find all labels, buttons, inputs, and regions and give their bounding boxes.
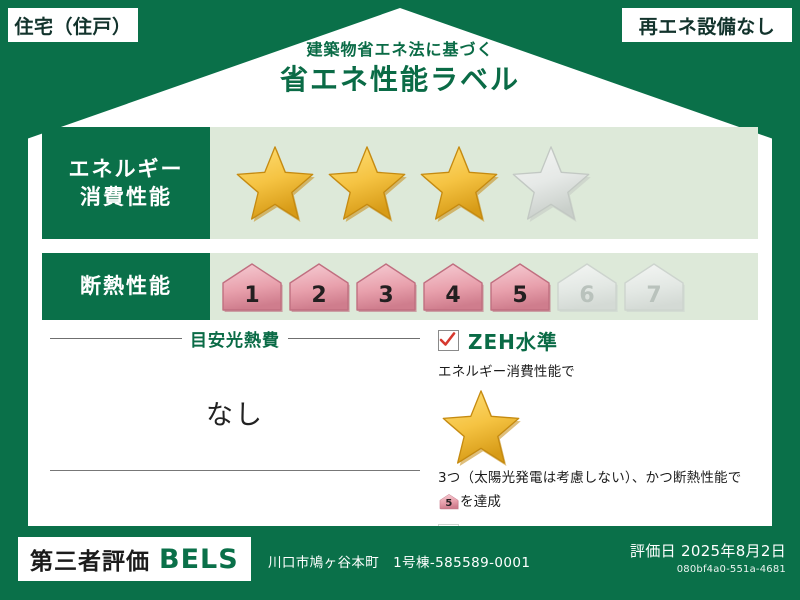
insulation-grade-number: 1 (244, 285, 259, 313)
insulation-grade-chip: 3 (354, 261, 418, 313)
insulation-label-text: 断熱性能 (80, 272, 172, 300)
insulation-grade-scale: 1234567 (220, 261, 686, 313)
zeh-check-line: ZEH水準 (438, 326, 758, 355)
insulation-grade-number: 6 (579, 285, 594, 313)
footer-address: 川口市鳩ヶ谷本町 1号棟-585589-0001 (268, 551, 530, 571)
zeh-desc-part3: を達成 (460, 494, 501, 510)
zeh-block: ZEH水準 エネルギー消費性能で3つ（太陽光発電は考慮しない）、かつ断熱性能で5… (438, 326, 758, 547)
inline-grade-chip: 5 (439, 493, 459, 510)
energy-rating-area (210, 127, 758, 239)
utility-cost-heading: 目安光熱費 (50, 326, 420, 351)
zeh-desc-part1: エネルギー消費性能で (438, 364, 575, 380)
page-title: 建築物省エネ法に基づく 省エネ性能ラベル (0, 40, 800, 97)
insulation-grade-chip: 7 (622, 261, 686, 313)
inline-grade-number: 5 (439, 493, 459, 510)
insulation-grade-chip: 5 (488, 261, 552, 313)
utility-cost-block: 目安光熱費 なし (50, 326, 420, 471)
utility-cost-value: なし (50, 393, 420, 432)
insulation-rating-area: 1234567 (210, 253, 758, 320)
zeh-checkbox-checked-icon (438, 330, 459, 351)
insulation-grade-chip: 6 (555, 261, 619, 313)
utility-cost-underline (50, 470, 420, 471)
divider-right (288, 338, 420, 339)
evaluation-date-label: 評価日 (630, 542, 676, 560)
insulation-performance-row: 断熱性能 1234567 (42, 253, 758, 320)
insulation-grade-number: 5 (512, 285, 527, 313)
insulation-grade-chip: 2 (287, 261, 351, 313)
zeh-description: エネルギー消費性能で3つ（太陽光発電は考慮しない）、かつ断熱性能で5を達成 (438, 362, 758, 513)
inline-star-icon (438, 386, 758, 468)
evaluation-date-value: 2025年8月2日 (681, 542, 786, 560)
insulation-grade-chip: 1 (220, 261, 284, 313)
star-rating (232, 142, 594, 224)
tag-renewable-equipment: 再エネ設備なし (622, 8, 792, 42)
insulation-performance-label: 断熱性能 (42, 253, 210, 320)
energy-performance-row: エネルギー 消費性能 (42, 127, 758, 239)
insulation-grade-number: 3 (378, 285, 393, 313)
footer-bar: 第三者評価 BELS 川口市鳩ヶ谷本町 1号棟-585589-0001 評価日 … (0, 526, 800, 600)
bels-logo-text: BELS (159, 544, 239, 575)
title-main: 省エネ性能ラベル (0, 63, 800, 97)
insulation-grade-number: 2 (311, 285, 326, 313)
energy-performance-label: 住宅（住戸） 再エネ設備なし 建築物省エネ法に基づく 省エネ性能ラベル エネルギ… (0, 0, 800, 600)
tag-dwelling-type: 住宅（住戸） (8, 8, 138, 42)
energy-label-line2: 消費性能 (80, 183, 172, 211)
zeh-title: ZEH水準 (468, 326, 558, 355)
title-subtitle: 建築物省エネ法に基づく (0, 40, 800, 59)
evaluation-date: 評価日 2025年8月2日 (630, 540, 786, 561)
divider-left (50, 338, 182, 339)
zeh-desc-star-count: 3つ（太陽光発電 (438, 470, 543, 486)
zeh-desc-part2: は考慮しない）、かつ断熱性能で (543, 470, 742, 486)
utility-cost-heading-text: 目安光熱費 (190, 326, 280, 351)
evaluation-id: 080bf4a0-551a-4681 (630, 564, 786, 575)
energy-label-line1: エネルギー (69, 155, 184, 183)
bels-japanese-text: 第三者評価 (30, 542, 150, 576)
footer-evaluation-info: 評価日 2025年8月2日 080bf4a0-551a-4681 (630, 540, 786, 575)
insulation-grade-number: 7 (646, 285, 661, 313)
insulation-grade-chip: 4 (421, 261, 485, 313)
insulation-grade-number: 4 (445, 285, 460, 313)
bels-badge: 第三者評価 BELS (18, 537, 251, 581)
energy-performance-label: エネルギー 消費性能 (42, 127, 210, 239)
